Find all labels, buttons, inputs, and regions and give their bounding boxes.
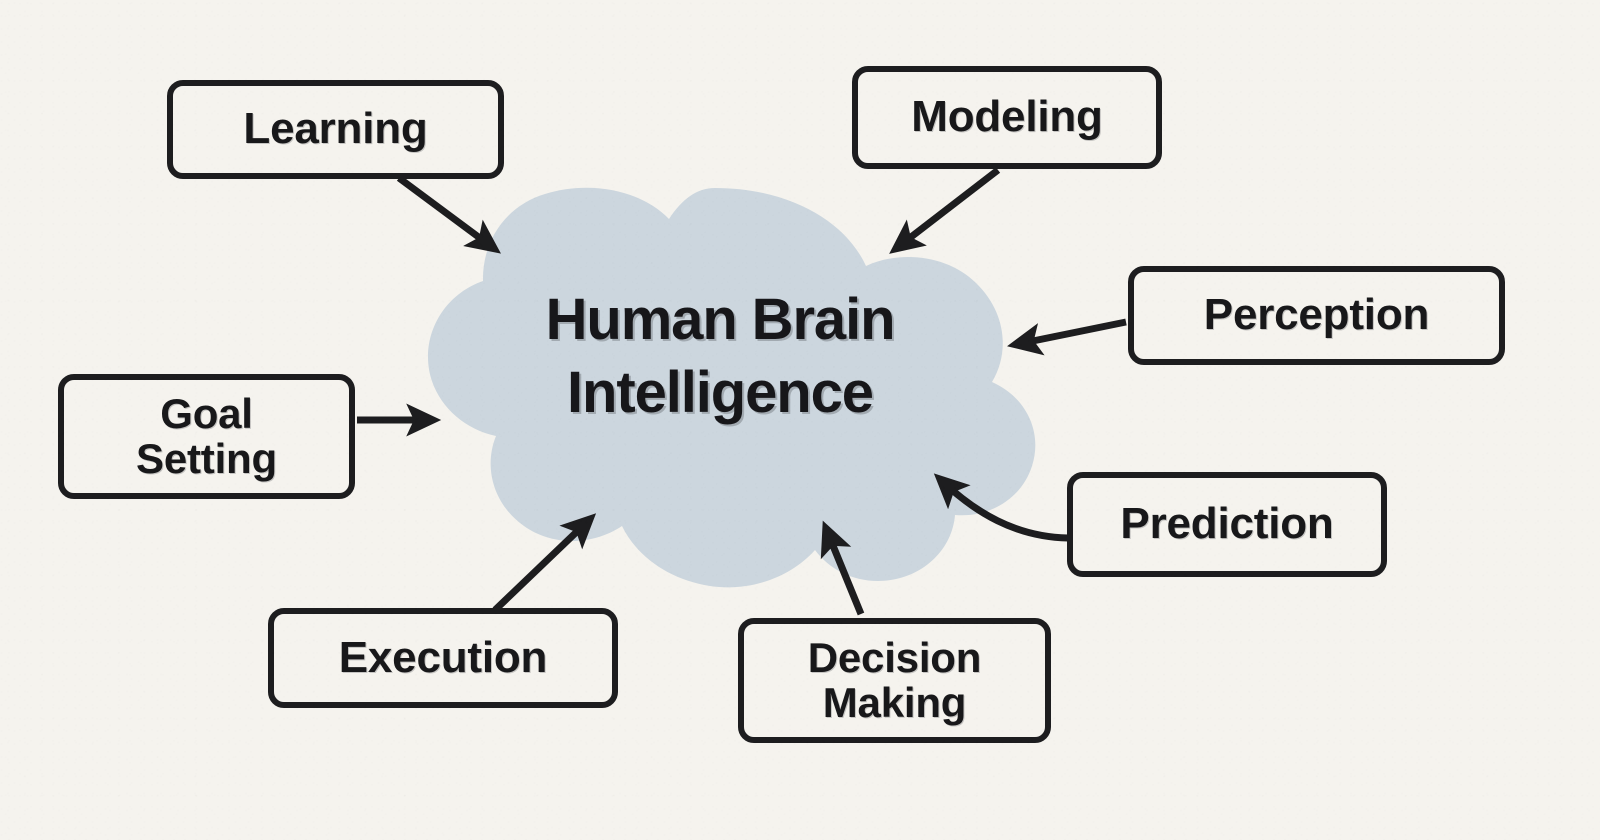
node-execution[interactable]: Execution [268,608,618,708]
node-prediction[interactable]: Prediction [1067,472,1387,577]
connector-prediction-to-center [942,481,1068,538]
node-perception-label: Perception [1204,292,1429,339]
node-execution-label: Execution [339,635,547,682]
node-learning-label: Learning [243,106,427,153]
node-prediction-label: Prediction [1120,501,1333,548]
node-modeling[interactable]: Modeling [852,66,1162,169]
connector-learning-to-center [399,178,492,247]
connector-execution-to-center [495,521,588,610]
node-perception[interactable]: Perception [1128,266,1505,365]
node-modeling-label: Modeling [911,94,1102,141]
node-decision-making[interactable]: Decision Making [738,618,1051,743]
node-goal-setting[interactable]: Goal Setting [58,374,355,499]
node-goal-setting-label: Goal Setting [136,392,277,481]
connector-perception-to-center [1018,322,1126,344]
diagram-canvas: Human Brain Intelligence Learning Modeli… [0,0,1600,840]
node-decision-making-label: Decision Making [808,636,981,725]
node-learning[interactable]: Learning [167,80,504,179]
connector-modeling-to-center [898,170,998,247]
connector-decision-making-to-center [827,531,861,614]
